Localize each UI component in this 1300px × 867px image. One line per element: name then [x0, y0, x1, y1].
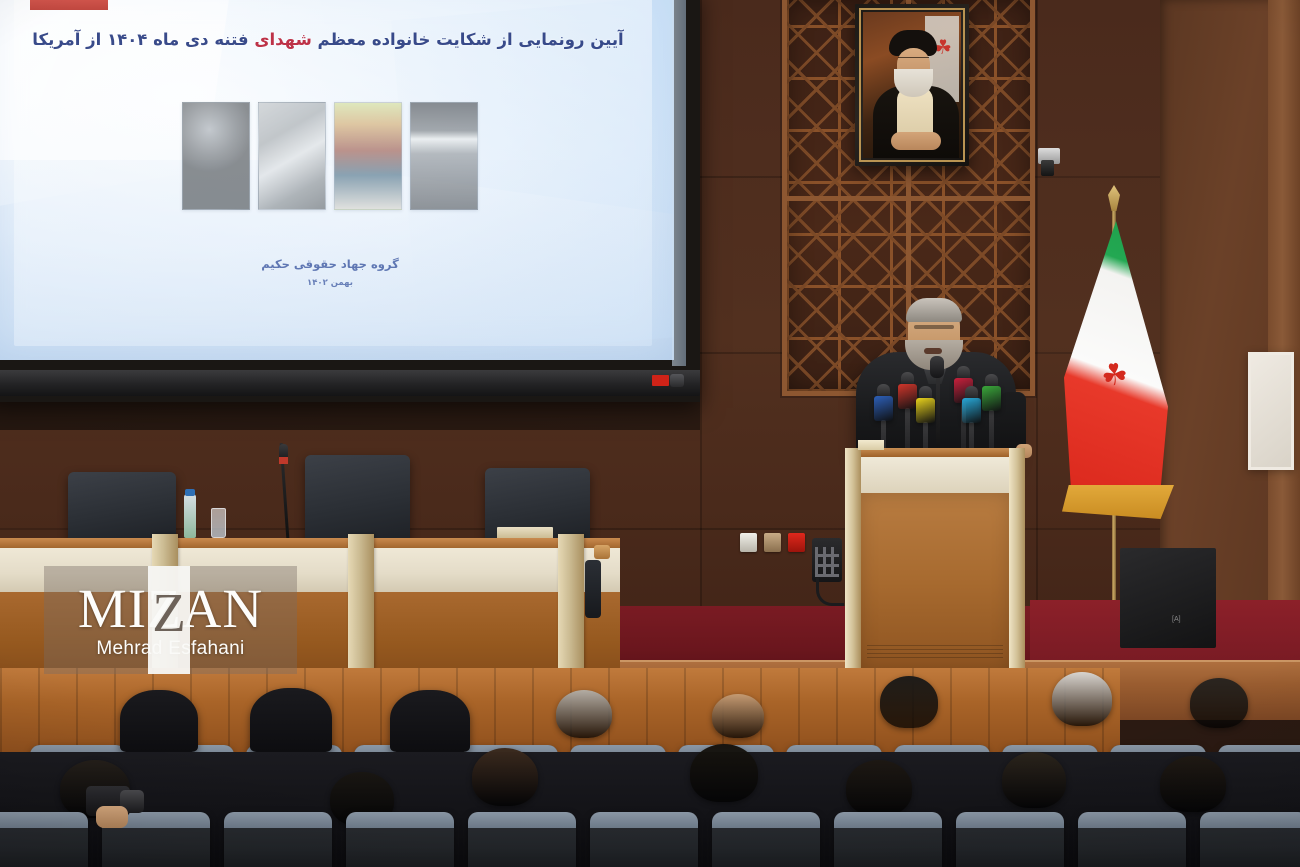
speaker-mouth	[924, 348, 942, 354]
projection-screen-surface: آیین رونمایی از شکایت خانواده معظم شهدای…	[0, 0, 674, 360]
mic-blue[interactable]	[874, 396, 893, 421]
attendee-white	[1052, 672, 1112, 726]
phone-keypad-icon[interactable]	[815, 547, 839, 577]
chador-attendee	[390, 690, 470, 752]
wall-white-panel	[1248, 352, 1294, 470]
attendee-front2	[472, 748, 538, 806]
podium-edge	[1009, 448, 1025, 680]
thumb-mural-portrait	[334, 102, 402, 210]
audience-seat[interactable]	[468, 812, 576, 867]
panel-chair[interactable]	[305, 455, 410, 545]
drinking-glass[interactable]	[211, 508, 226, 538]
projection-screen-housing: آیین رونمایی از شکایت خانواده معظم شهدای…	[0, 0, 700, 402]
emergency-outlet-red[interactable]	[788, 533, 805, 552]
speaker-arm	[1000, 392, 1026, 452]
podium-front-panel	[859, 457, 1011, 493]
screen-side-strip	[672, 0, 686, 366]
papers-on-podium[interactable]	[858, 440, 884, 450]
attendee-gray	[556, 690, 612, 738]
thumb-burnt-car	[258, 102, 326, 210]
audience-seat[interactable]	[1200, 812, 1300, 867]
portrait-gold-inner-frame	[859, 8, 965, 162]
seat-headrest	[834, 812, 942, 828]
podium-grill	[867, 644, 1003, 658]
attendee-dark	[880, 676, 938, 728]
screen-red-tab	[652, 375, 669, 386]
seat-headrest	[956, 812, 1064, 828]
panel-chair-arm-wood	[594, 545, 610, 559]
chador-attendee	[250, 688, 332, 752]
loudspeaker-cabinet	[1120, 548, 1216, 648]
speaker-brow	[914, 325, 954, 329]
power-outlet-white[interactable]	[740, 533, 757, 552]
seat-headrest	[0, 812, 88, 828]
attendee-front4	[846, 760, 912, 816]
loudspeaker-tag: [A]	[1172, 616, 1181, 623]
water-bottle[interactable]	[184, 494, 196, 538]
flag-finial-icon	[1108, 185, 1120, 211]
audience-seat[interactable]	[712, 812, 820, 867]
watermark-z-letter: Z	[148, 566, 190, 674]
projection-screen-bottom-bar	[0, 370, 700, 396]
thumb-building-banner	[410, 102, 478, 210]
screen-top-red-banner	[30, 0, 108, 10]
flag-gold-fringe	[1062, 485, 1174, 519]
slide-date: بهمن ۱۴۰۲	[0, 278, 674, 288]
slide-title-highlight: شهدای	[254, 30, 311, 49]
attendee-front5	[1002, 752, 1066, 808]
slide-title-part2: فتنه دی ماه ۱۴۰۴ از آمریکا	[32, 30, 254, 49]
panel-chair-arm	[585, 560, 601, 618]
mic-green[interactable]	[982, 386, 1001, 411]
seat-headrest	[590, 812, 698, 828]
wall-right-edge	[1268, 0, 1300, 700]
seat-headrest	[224, 812, 332, 828]
mic-cyan[interactable]	[962, 398, 981, 423]
iran-emblem-icon: ☘	[1098, 359, 1132, 395]
mic-yellow[interactable]	[916, 398, 935, 423]
speaker-hair	[906, 298, 962, 322]
screen-pull-knob[interactable]	[670, 374, 684, 387]
seat-headrest	[712, 812, 820, 828]
mic-red[interactable]	[898, 384, 917, 409]
audience-seat[interactable]	[834, 812, 942, 867]
slide-title-part1: آیین رونمایی از شکایت خانواده معظم	[312, 30, 624, 49]
audience-seat[interactable]	[224, 812, 332, 867]
slide-thumbnail-row	[0, 102, 674, 210]
attendee-bald	[712, 694, 764, 738]
podium-edge	[845, 448, 861, 680]
power-outlet-brown[interactable]	[764, 533, 781, 552]
chador-attendee	[120, 690, 198, 752]
audience-seat[interactable]	[346, 812, 454, 867]
seat-headrest	[1078, 812, 1186, 828]
thumb-dark-scene	[182, 102, 250, 210]
attendee-front3	[690, 744, 758, 802]
audience-seat[interactable]	[956, 812, 1064, 867]
center-microphone[interactable]	[930, 356, 944, 378]
attendee-dark2	[1190, 678, 1248, 728]
slide-organization: گروه جهاد حقوقی حکیم	[0, 257, 674, 271]
framed-leader-portrait: ☘	[855, 4, 969, 166]
flag-cloth: ☘	[1064, 221, 1168, 511]
security-camera-lens	[1041, 160, 1054, 176]
audience-seat[interactable]	[0, 812, 88, 867]
desk-microphone-indicator	[279, 457, 288, 464]
photo-scene: آیین رونمایی از شکایت خانواده معظم شهدای…	[0, 0, 1300, 867]
bottle-cap	[185, 489, 195, 496]
photographer-hand	[96, 806, 128, 828]
attendee-front6	[1160, 756, 1226, 812]
seat-headrest	[1200, 812, 1300, 828]
audience-seat[interactable]	[1078, 812, 1186, 867]
seat-headrest	[346, 812, 454, 828]
speaker-podium	[845, 448, 1025, 680]
audience-seat[interactable]	[590, 812, 698, 867]
seat-headrest	[468, 812, 576, 828]
slide-title: آیین رونمایی از شکایت خانواده معظم شهدای…	[0, 30, 660, 49]
